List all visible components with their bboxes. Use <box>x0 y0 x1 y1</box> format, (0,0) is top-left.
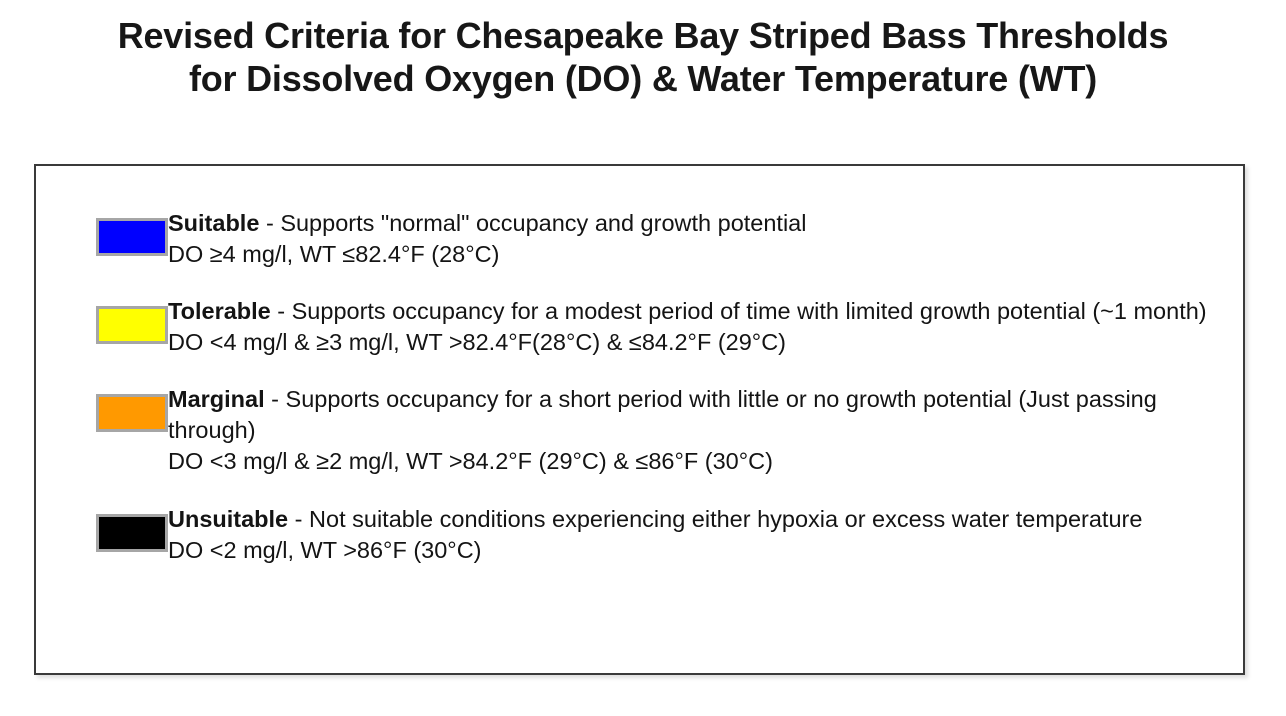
legend-term: Marginal <box>168 386 265 412</box>
legend-criteria: DO <4 mg/l & ≥3 mg/l, WT >82.4°F(28°C) &… <box>168 327 1223 358</box>
legend-criteria: DO <2 mg/l, WT >86°F (30°C) <box>168 535 1223 566</box>
page-title: Revised Criteria for Chesapeake Bay Stri… <box>0 14 1286 100</box>
legend-item-unsuitable: Unsuitable - Not suitable conditions exp… <box>36 504 1243 566</box>
legend-item-marginal: Marginal - Supports occupancy for a shor… <box>36 384 1243 477</box>
legend-term: Unsuitable <box>168 506 288 532</box>
legend-item-suitable: Suitable - Supports "normal" occupancy a… <box>36 208 1243 270</box>
legend-panel: Suitable - Supports "normal" occupancy a… <box>34 164 1245 675</box>
legend-item-tolerable: Tolerable - Supports occupancy for a mod… <box>36 296 1243 358</box>
legend-separator: - <box>265 386 286 412</box>
legend-description-text: Supports "normal" occupancy and growth p… <box>280 210 806 236</box>
color-swatch-black <box>96 514 168 552</box>
legend-swatch-cell <box>36 296 168 344</box>
legend-text-cell: Marginal - Supports occupancy for a shor… <box>168 384 1243 477</box>
legend-description: Unsuitable - Not suitable conditions exp… <box>168 504 1223 535</box>
legend-description: Marginal - Supports occupancy for a shor… <box>168 384 1223 446</box>
legend-term: Suitable <box>168 210 259 236</box>
legend-description-text: Supports occupancy for a modest period o… <box>292 298 1207 324</box>
legend-criteria: DO <3 mg/l & ≥2 mg/l, WT >84.2°F (29°C) … <box>168 446 1223 477</box>
legend-description: Tolerable - Supports occupancy for a mod… <box>168 296 1223 327</box>
legend-text-cell: Tolerable - Supports occupancy for a mod… <box>168 296 1243 358</box>
color-swatch-blue <box>96 218 168 256</box>
legend-swatch-cell <box>36 504 168 552</box>
legend-description: Suitable - Supports "normal" occupancy a… <box>168 208 1223 239</box>
legend-list: Suitable - Supports "normal" occupancy a… <box>36 166 1243 566</box>
legend-separator: - <box>259 210 280 236</box>
legend-term: Tolerable <box>168 298 271 324</box>
page-title-line-1: Revised Criteria for Chesapeake Bay Stri… <box>0 14 1286 57</box>
legend-text-cell: Suitable - Supports "normal" occupancy a… <box>168 208 1243 270</box>
legend-description-text: Not suitable conditions experiencing eit… <box>309 506 1142 532</box>
color-swatch-orange <box>96 394 168 432</box>
page-title-line-2: for Dissolved Oxygen (DO) & Water Temper… <box>0 57 1286 100</box>
legend-swatch-cell <box>36 208 168 256</box>
legend-separator: - <box>288 506 309 532</box>
legend-criteria: DO ≥4 mg/l, WT ≤82.4°F (28°C) <box>168 239 1223 270</box>
legend-description-text: Supports occupancy for a short period wi… <box>168 386 1157 443</box>
legend-swatch-cell <box>36 384 168 432</box>
legend-text-cell: Unsuitable - Not suitable conditions exp… <box>168 504 1243 566</box>
legend-separator: - <box>271 298 292 324</box>
color-swatch-yellow <box>96 306 168 344</box>
